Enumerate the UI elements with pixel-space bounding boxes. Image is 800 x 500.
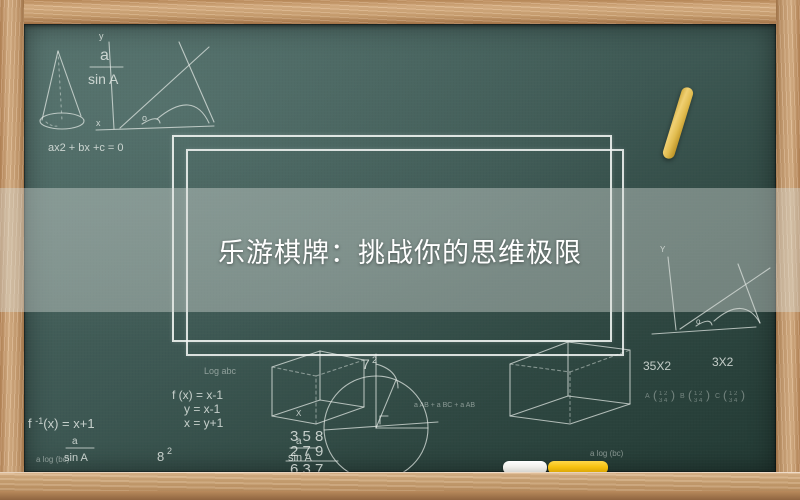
chalkboard-banner: a sin A y x o ax2 + bx +c = 0 f (x) = x-…: [0, 0, 800, 500]
frame-top-rail: [0, 0, 800, 24]
ledge-lip: [0, 491, 800, 500]
page-title: 乐游棋牌：挑战你的思维极限: [0, 188, 800, 312]
chalk-ledge: [0, 472, 800, 500]
